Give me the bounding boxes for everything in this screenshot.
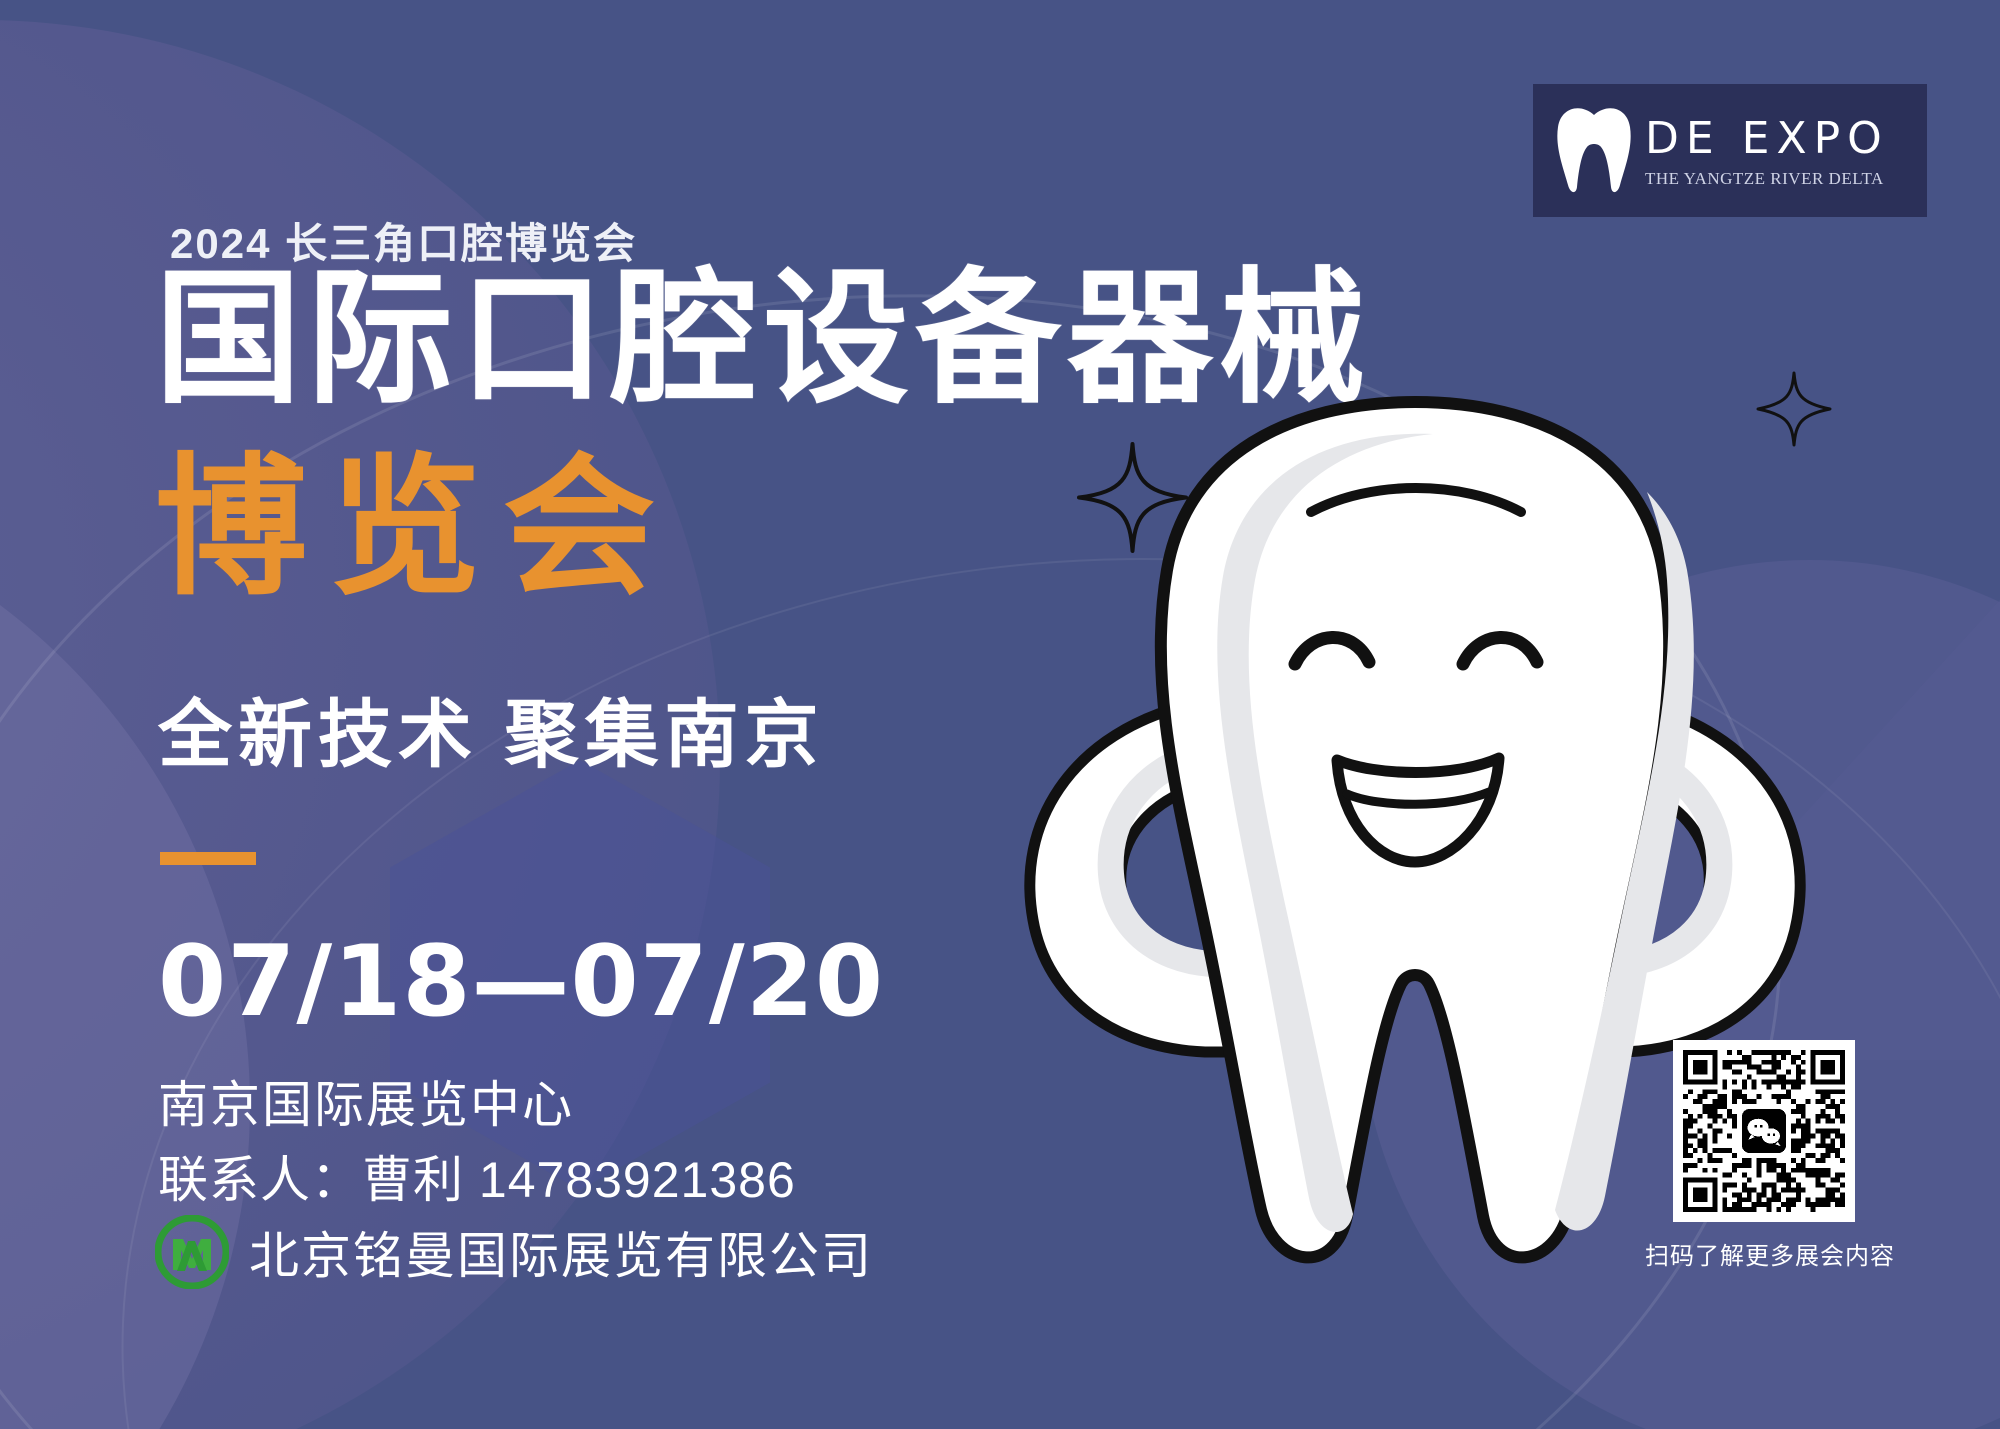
- poster-root: DE EXPO THE YANGTZE RIVER DELTA 2024 长三角…: [0, 0, 2000, 1429]
- organizer-name: 北京铭曼国际展览有限公司: [249, 1216, 873, 1288]
- main-headline-line2: 博览会: [155, 450, 677, 605]
- organizer-logo-icon: [155, 1215, 229, 1289]
- event-venue: 南京国际展览中心: [158, 1065, 574, 1137]
- event-dates: 07/18—07/20: [158, 925, 884, 1039]
- accent-divider: [160, 852, 256, 865]
- brand-logo-panel: DE EXPO THE YANGTZE RIVER DELTA: [1533, 84, 1927, 217]
- qr-block: 扫码了解更多展会内容: [1673, 1040, 1863, 1271]
- logo-text-group: DE EXPO THE YANGTZE RIVER DELTA: [1645, 112, 1889, 188]
- tooth-logo-mark: [1551, 105, 1637, 197]
- qr-caption: 扫码了解更多展会内容: [1645, 1236, 1863, 1271]
- organizer-row: 北京铭曼国际展览有限公司: [155, 1215, 873, 1289]
- logo-subtitle: THE YANGTZE RIVER DELTA: [1645, 169, 1889, 189]
- logo-title: DE EXPO: [1645, 116, 1889, 162]
- contact-info: 联系人：曹利 14783921386: [158, 1140, 796, 1212]
- qr-code[interactable]: [1673, 1040, 1855, 1222]
- subheadline: 全新技术 聚集南京: [158, 675, 825, 782]
